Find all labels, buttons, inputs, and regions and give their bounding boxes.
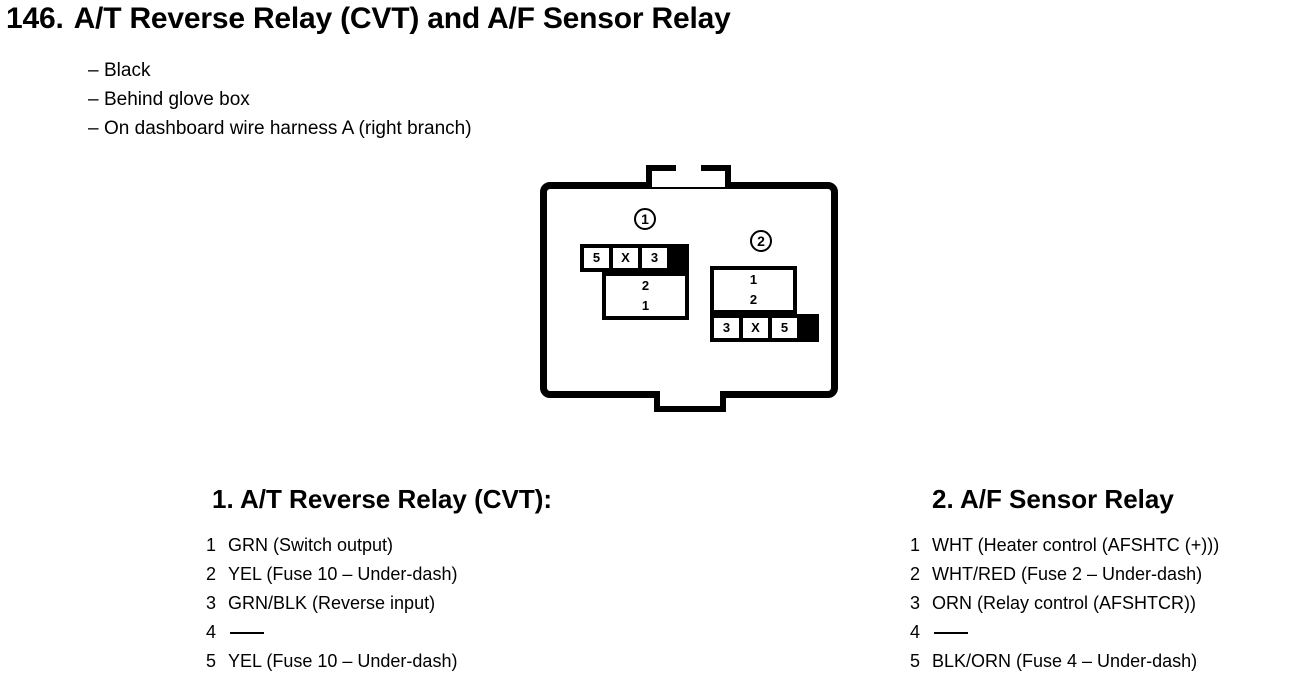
legend-unused-pin-mark [934, 632, 968, 634]
legend-row: 3GRN/BLK (Reverse input) [206, 589, 552, 618]
legend-row: 4 [206, 618, 552, 647]
legend-connector-2: 2. A/F Sensor Relay 1WHT (Heater control… [910, 484, 1219, 676]
description-bullet-list: –Black –Behind glove box –On dashboard w… [88, 56, 472, 143]
legend-pin-number: 1 [206, 531, 228, 560]
legend-pin-number: 2 [206, 560, 228, 589]
legend-row: 5BLK/ORN (Fuse 4 – Under-dash) [910, 647, 1219, 676]
page-title-text: A/T Reverse Relay (CVT) and A/F Sensor R… [74, 2, 731, 35]
legend-title: 2. A/F Sensor Relay [910, 484, 1219, 515]
pin-cell-blank-x: X [613, 248, 638, 268]
legend-row: 5YEL (Fuse 10 – Under-dash) [206, 647, 552, 676]
pin-cell-2: 2 [606, 276, 685, 296]
connector-1-pin-block: 5 X 3 2 1 [580, 244, 689, 320]
legend-pin-number: 4 [910, 618, 932, 647]
legend-unused-pin-mark [230, 632, 264, 634]
callout-marker-1: 1 [634, 208, 656, 230]
pin-row-bottom: 3 X 5 [710, 314, 819, 342]
connector-2-pin-block: 1 2 3 X 5 [710, 266, 819, 342]
list-item-label: On dashboard wire harness A (right branc… [104, 118, 472, 139]
dash-icon: – [88, 56, 104, 85]
legend-pin-number: 5 [910, 647, 932, 676]
legend-pin-description: WHT/RED (Fuse 2 – Under-dash) [932, 564, 1202, 584]
legend-pin-number: 3 [206, 589, 228, 618]
legend-pin-number: 3 [910, 589, 932, 618]
list-item: –Behind glove box [88, 85, 472, 114]
list-item: –On dashboard wire harness A (right bran… [88, 114, 472, 143]
list-item: –Black [88, 56, 472, 85]
legend-connector-1: 1. A/T Reverse Relay (CVT): 1GRN (Switch… [206, 484, 552, 676]
pin-cell-1: 1 [606, 296, 685, 316]
legend-pin-description: WHT (Heater control (AFSHTC (+))) [932, 535, 1219, 555]
dash-icon: – [88, 85, 104, 114]
legend-pin-description: YEL (Fuse 10 – Under-dash) [228, 651, 457, 671]
legend-pin-number: 2 [910, 560, 932, 589]
pin-cell-5: 5 [584, 248, 609, 268]
page-title: 146.A/T Reverse Relay (CVT) and A/F Sens… [6, 2, 731, 36]
pin-row-top: 5 X 3 [580, 244, 689, 272]
dash-icon: – [88, 114, 104, 143]
legend-row: 1GRN (Switch output) [206, 531, 552, 560]
page-title-number: 146. [6, 2, 64, 35]
legend-row: 4 [910, 618, 1219, 647]
pin-row-top: 1 [710, 266, 797, 290]
callout-marker-2: 2 [750, 230, 772, 252]
legend-pin-number: 5 [206, 647, 228, 676]
legend-pin-description: YEL (Fuse 10 – Under-dash) [228, 564, 457, 584]
pin-row-middle: 2 [602, 272, 689, 296]
connector-top-gap [652, 179, 725, 187]
pin-row-middle: 2 [710, 290, 797, 314]
legend-pin-description: GRN/BLK (Reverse input) [228, 593, 435, 613]
legend-row: 3ORN (Relay control (AFSHTCR)) [910, 589, 1219, 618]
pin-row-bottom: 1 [602, 296, 689, 320]
legend-row: 2YEL (Fuse 10 – Under-dash) [206, 560, 552, 589]
connector-bottom-gap [660, 391, 720, 399]
pin-cell-blank-x: X [743, 318, 768, 338]
pin-cell-5: 5 [772, 318, 797, 338]
pin-cell-1: 1 [714, 270, 793, 290]
legend-row: 2WHT/RED (Fuse 2 – Under-dash) [910, 560, 1219, 589]
legend-pin-description: ORN (Relay control (AFSHTCR)) [932, 593, 1196, 613]
legend-title: 1. A/T Reverse Relay (CVT): [206, 484, 552, 515]
list-item-label: Behind glove box [104, 89, 250, 110]
legend-pin-number: 4 [206, 618, 228, 647]
legend-pin-number: 1 [910, 531, 932, 560]
pin-cell-2: 2 [714, 290, 793, 310]
legend-row: 1WHT (Heater control (AFSHTC (+))) [910, 531, 1219, 560]
pin-cell-3: 3 [714, 318, 739, 338]
legend-pin-description: GRN (Switch output) [228, 535, 393, 555]
relay-connector-diagram: 1 2 5 X 3 2 1 1 2 3 X [536, 162, 866, 422]
pin-cell-3: 3 [642, 248, 667, 268]
list-item-label: Black [104, 60, 150, 81]
legend-pin-description: BLK/ORN (Fuse 4 – Under-dash) [932, 651, 1197, 671]
